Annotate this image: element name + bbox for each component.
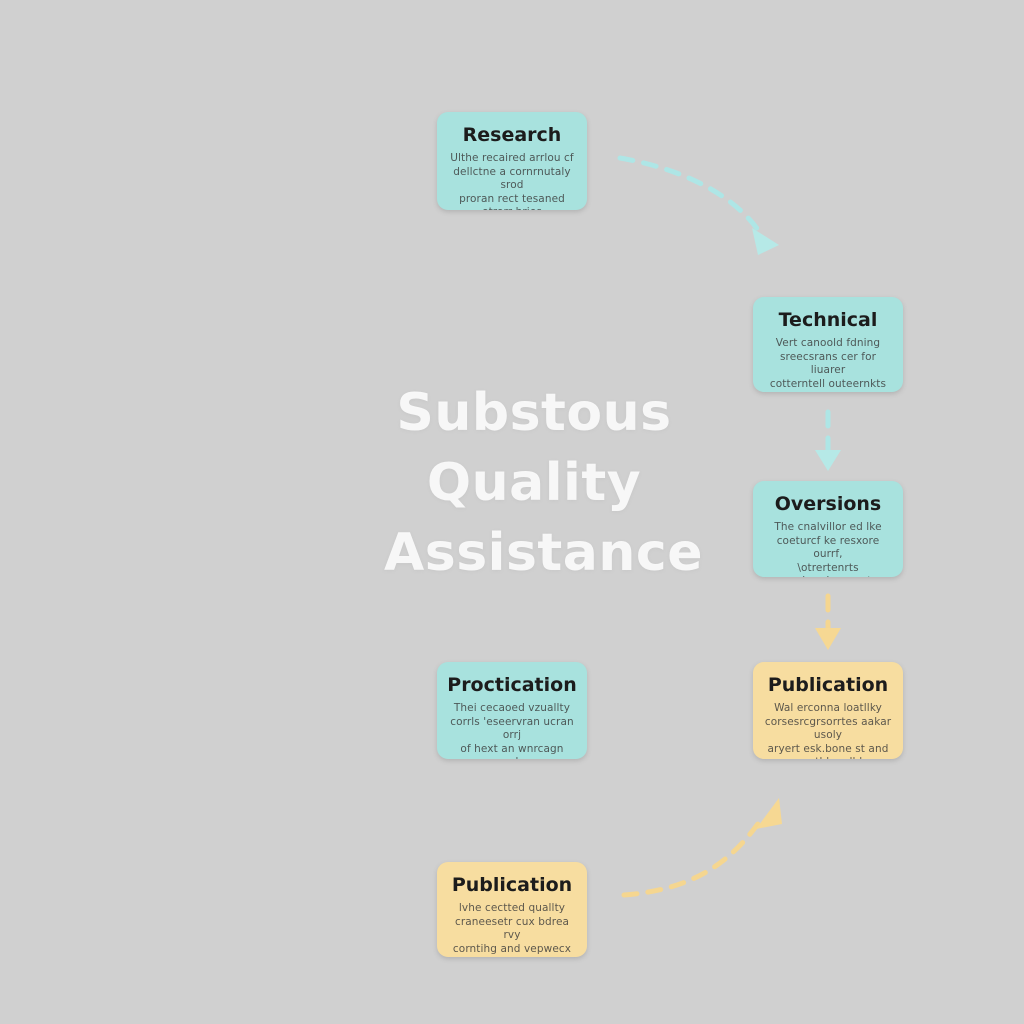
connector-technical-to-oversions [815, 412, 841, 471]
node-research-title: Research [447, 123, 577, 147]
connector-research-to-technical-line [620, 158, 762, 236]
connector-publication-bottom-to-publication-right-arrowhead [756, 798, 782, 829]
node-proctication-title: Proctication [447, 673, 577, 697]
node-oversions-title: Oversions [763, 492, 893, 516]
node-proctication[interactable]: Proctication Thei cecaoed vzualltycorrls… [437, 662, 587, 759]
node-technical-title: Technical [763, 308, 893, 332]
node-publication-bottom-title: Publication [447, 873, 577, 897]
node-publication-bottom[interactable]: Publication lvhe cectted qualltycraneese… [437, 862, 587, 957]
node-publication-right-title: Publication [763, 673, 893, 697]
node-publication-bottom-body: lvhe cectted qualltycraneesetr cux bdrea… [447, 902, 577, 957]
connector-oversions-to-publication [815, 596, 841, 650]
node-research-body: Ulthe recaired arrlou cfdellctne a cornr… [447, 152, 577, 210]
node-oversions[interactable]: Oversions The cnalvillor ed lkecoeturcf … [753, 481, 903, 577]
node-publication-right[interactable]: Publication Wal erconna loatllkycorsesrc… [753, 662, 903, 759]
node-proctication-body: Thei cecaoed vzualltycorrls 'eseervran u… [447, 702, 577, 759]
connector-publication-bottom-to-publication-right [624, 798, 782, 895]
connector-technical-to-oversions-arrowhead [815, 450, 841, 471]
connector-oversions-to-publication-arrowhead [815, 628, 841, 650]
connector-research-to-technical-arrowhead [752, 228, 779, 255]
node-publication-right-body: Wal erconna loatllkycorsesrcgrsorrtes aa… [763, 702, 893, 759]
node-technical[interactable]: Technical Vert canoold fdningsreecsrans … [753, 297, 903, 392]
diagram-canvas: Substous Quality Assistance Research Ult… [0, 0, 1024, 1024]
connector-research-to-technical [620, 158, 779, 255]
node-research[interactable]: Research Ulthe recaired arrlou cfdellctn… [437, 112, 587, 210]
node-oversions-body: The cnalvillor ed lkecoeturcf ke resxore… [763, 521, 893, 577]
node-technical-body: Vert canoold fdningsreecsrans cer for li… [763, 337, 893, 392]
connector-publication-bottom-to-publication-right-line [624, 818, 762, 895]
